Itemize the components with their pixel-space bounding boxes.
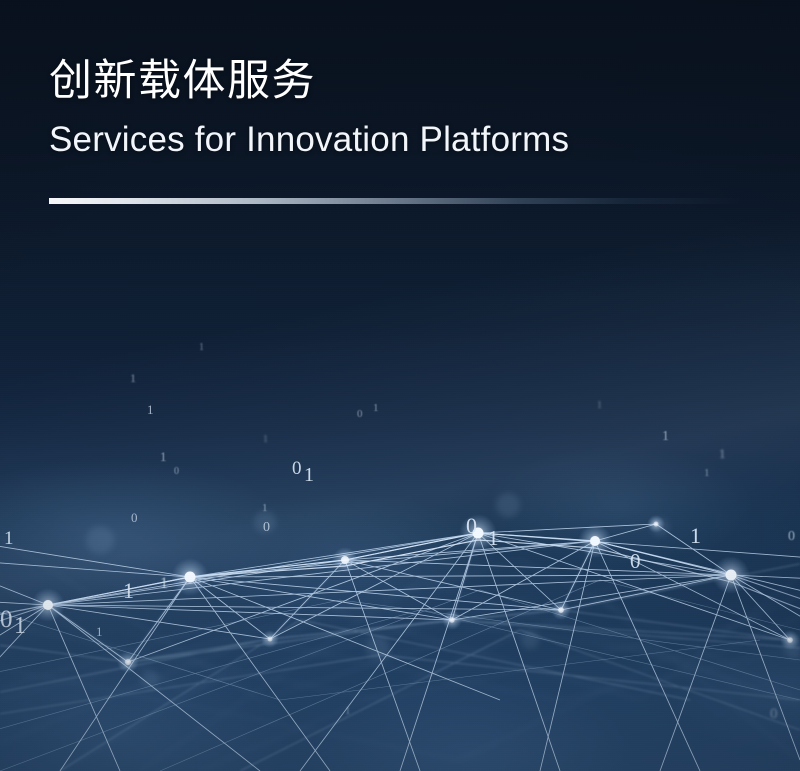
binary-digit: 0 bbox=[292, 459, 302, 478]
binary-digit: 0 bbox=[630, 551, 641, 572]
binary-digit: 1 bbox=[130, 372, 136, 384]
binary-digit: 1 bbox=[199, 343, 204, 353]
binary-digit: 1 bbox=[160, 576, 168, 592]
binary-digit: 1 bbox=[4, 529, 14, 548]
binary-digit: 1 bbox=[690, 525, 701, 547]
mesh-node-cores bbox=[43, 522, 793, 665]
binary-digit: 0 bbox=[788, 530, 795, 544]
mesh-node-halos bbox=[31, 514, 800, 673]
binary-digit: 0 bbox=[263, 521, 270, 535]
innovation-platforms-banner: 101111111000110101101011110011 创新载体服务 Se… bbox=[0, 0, 800, 771]
binary-digit: 1 bbox=[160, 450, 167, 463]
binary-digit: 1 bbox=[488, 528, 499, 549]
binary-digit: 1 bbox=[262, 503, 268, 514]
binary-digit: 1 bbox=[96, 625, 103, 638]
binary-digit: 1 bbox=[704, 468, 710, 479]
binary-digit: 1 bbox=[373, 403, 379, 414]
binary-digit: 0 bbox=[466, 515, 477, 537]
title-divider-rule bbox=[49, 198, 739, 204]
binary-digit: 1 bbox=[345, 706, 351, 717]
binary-digit: 1 bbox=[662, 430, 669, 444]
binary-digit: 0 bbox=[131, 511, 138, 524]
binary-digit: 1 bbox=[147, 403, 154, 416]
binary-digit: 1 bbox=[263, 435, 268, 445]
page-title-english: Services for Innovation Platforms bbox=[49, 121, 749, 160]
binary-digit: 0 bbox=[0, 607, 13, 632]
binary-digit: 0 bbox=[174, 467, 179, 477]
binary-digit: 1 bbox=[14, 614, 26, 638]
page-title-chinese: 创新载体服务 bbox=[49, 56, 749, 107]
banner-heading-block: 创新载体服务 Services for Innovation Platforms bbox=[49, 56, 749, 159]
binary-digit: 1 bbox=[123, 580, 134, 602]
binary-digit: 0 bbox=[357, 409, 363, 420]
binary-digit: 1 bbox=[719, 447, 726, 460]
binary-digit: 1 bbox=[597, 401, 602, 411]
binary-digit: 0 bbox=[770, 707, 778, 722]
binary-digit: 1 bbox=[304, 465, 314, 485]
